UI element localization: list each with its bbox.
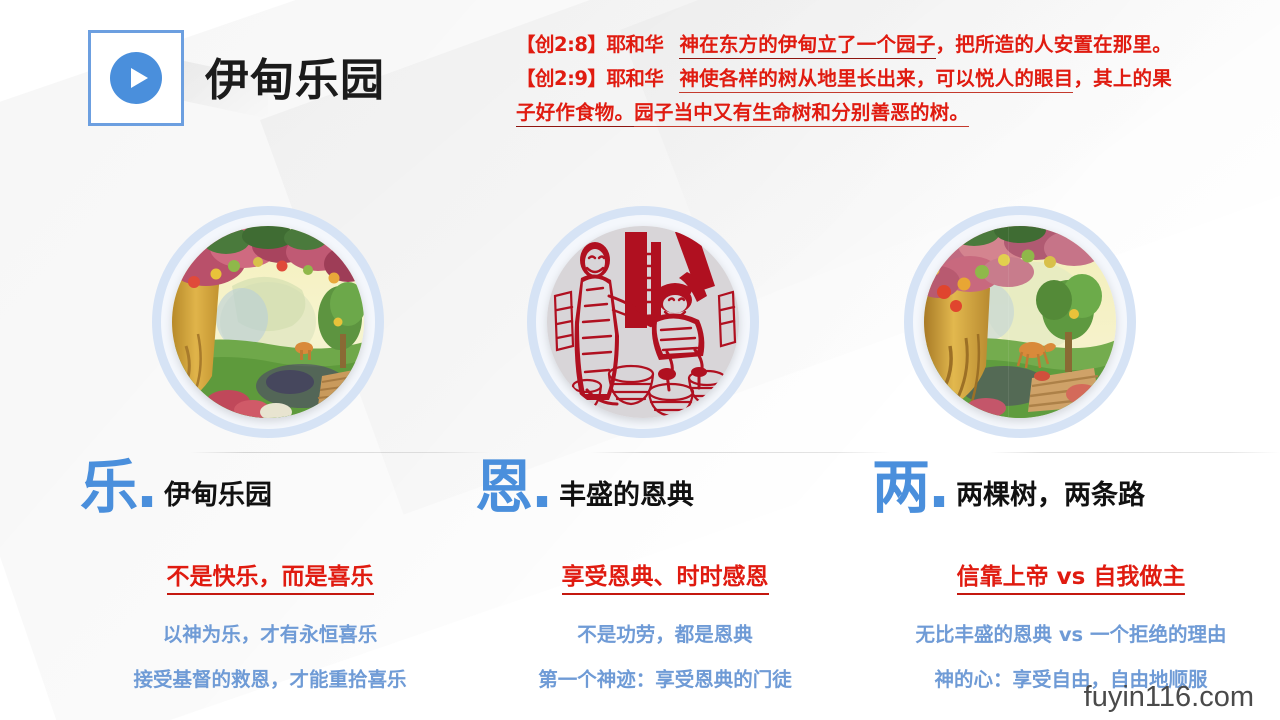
play-triangle-icon — [131, 68, 148, 88]
column-3-big-char: 两 — [872, 460, 928, 514]
slide-canvas: 伊甸乐园 【创2:8】耶和华神在东方的伊甸立了一个园子，把所造的人安置在那里。 … — [0, 0, 1280, 720]
scripture-block: 【创2:8】耶和华神在东方的伊甸立了一个园子，把所造的人安置在那里。 【创2:9… — [516, 28, 1256, 130]
column-2-blue-text: 不是功劳，都是恩典 第一个神迹：享受恩典的门徒 — [465, 612, 865, 702]
scripture-ref-1: 【创2:8】耶和华 — [516, 33, 663, 56]
column-1-blue-line-2: 接受基督的救恩，才能重拾喜乐 — [70, 657, 470, 702]
scripture-line-1-b: ，把所造的人安置在那里。 — [936, 33, 1172, 56]
tree-of-life-painting — [924, 226, 1116, 418]
scripture-line-2-b: ，其上的果 — [1073, 67, 1172, 90]
scripture-line-3-b: 园子当中又有生命树和分别善恶的树。 — [634, 101, 969, 127]
column-1-blue-text: 以神为乐，才有永恒喜乐 接受基督的救恩，才能重拾喜乐 — [70, 612, 470, 702]
column-1-dot: . — [136, 460, 158, 514]
illustration-circle-3 — [904, 206, 1136, 438]
column-3-blue-line-1: 无比丰盛的恩典 vs 一个拒绝的理由 — [862, 612, 1280, 657]
column-2-dot: . — [531, 460, 553, 514]
illustration-circle-1 — [152, 206, 384, 438]
column-2-big-char: 恩 — [475, 460, 531, 514]
illustration-circle-2 — [527, 206, 759, 438]
column-3-label: 两棵树，两条路 — [956, 478, 1145, 514]
scripture-line-3-a: 子好作食物。 — [516, 101, 634, 127]
scripture-line-2-a: 神使各样的树从地里长出来，可以悦人的眼目 — [679, 67, 1073, 93]
scripture-line-1: 【创2:8】耶和华神在东方的伊甸立了一个园子，把所造的人安置在那里。 — [516, 28, 1256, 62]
column-1-big-char: 乐 — [80, 460, 136, 514]
column-1-red-heading: 不是快乐，而是喜乐 — [70, 557, 470, 591]
scripture-line-1-a: 神在东方的伊甸立了一个园子 — [679, 33, 935, 59]
logo-play-badge — [88, 30, 184, 126]
column-divider-1 — [190, 452, 490, 453]
column-1-blue-line-1: 以神为乐，才有永恒喜乐 — [70, 612, 470, 657]
column-divider-3 — [990, 452, 1280, 453]
column-3-red-heading: 信靠上帝 vs 自我做主 — [862, 557, 1280, 591]
column-divider-2 — [590, 452, 890, 453]
scripture-line-2: 【创2:9】耶和华神使各样的树从地里长出来，可以悦人的眼目，其上的果 — [516, 62, 1256, 96]
scripture-ref-2: 【创2:9】耶和华 — [516, 67, 663, 90]
page-title: 伊甸乐园 — [205, 44, 385, 108]
wedding-at-cana-woodcut — [547, 226, 739, 418]
column-1-label: 伊甸乐园 — [164, 478, 272, 514]
column-2-red-heading: 享受恩典、时时感恩 — [465, 557, 865, 591]
column-2-blue-line-1: 不是功劳，都是恩典 — [465, 612, 865, 657]
column-2-blue-line-2: 第一个神迹：享受恩典的门徒 — [465, 657, 865, 702]
site-watermark: fuyin116.com — [1084, 681, 1254, 714]
play-button-icon — [110, 52, 162, 104]
scripture-line-3: 子好作食物。园子当中又有生命树和分别善恶的树。 — [516, 96, 1256, 130]
column-2-label: 丰盛的恩典 — [559, 478, 694, 514]
column-3-dot: . — [928, 460, 950, 514]
eden-garden-painting — [172, 226, 364, 418]
